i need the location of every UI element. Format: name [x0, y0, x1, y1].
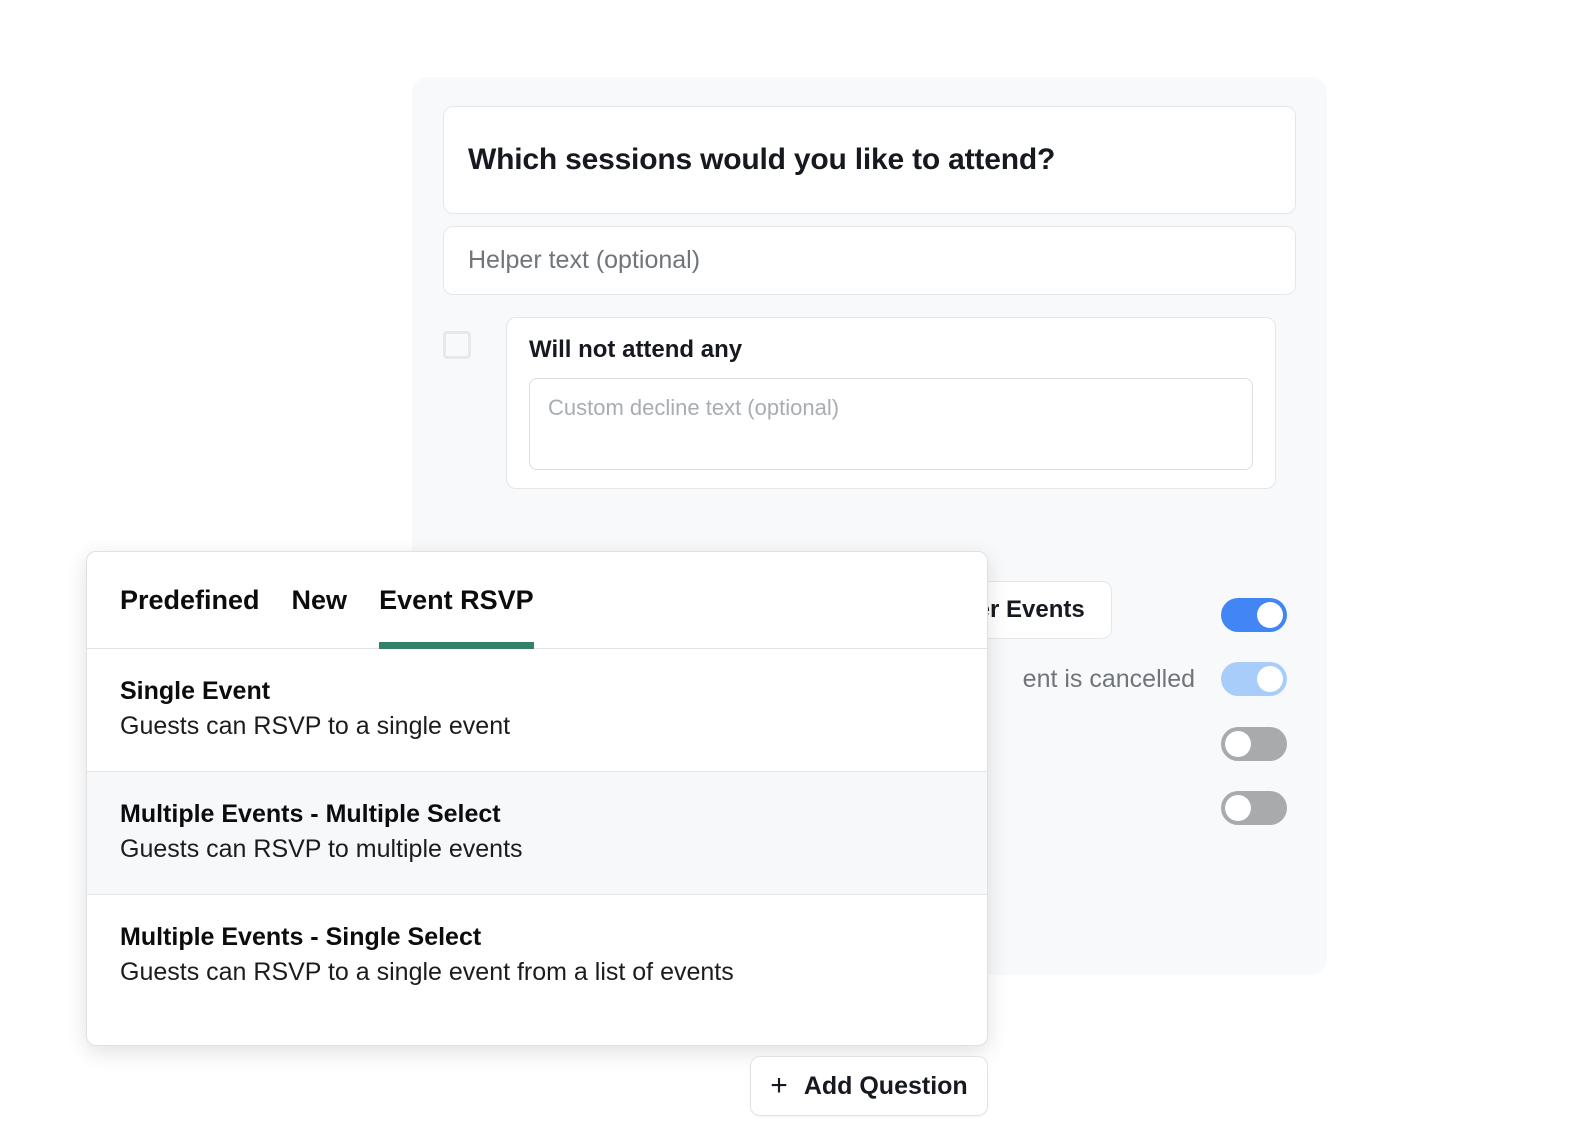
toggle-knob	[1225, 731, 1251, 757]
list-item[interactable]: Multiple Events - Multiple Select Guests…	[87, 772, 987, 895]
decline-option-card: Will not attend any Custom decline text …	[506, 317, 1276, 489]
helper-text-field[interactable]: Helper text (optional)	[443, 226, 1296, 295]
tab-new[interactable]: New	[292, 552, 348, 649]
question-title-text: Which sessions would you like to attend?	[468, 143, 1055, 177]
setting-toggle-1[interactable]	[1221, 598, 1287, 632]
decline-checkbox[interactable]	[443, 331, 471, 359]
toggle-knob	[1225, 795, 1251, 821]
add-question-label: Add Question	[804, 1072, 968, 1101]
screenshot-root: Which sessions would you like to attend?…	[0, 0, 1570, 1146]
question-title-field[interactable]: Which sessions would you like to attend?	[443, 106, 1296, 214]
setting-toggle-2[interactable]	[1221, 662, 1287, 696]
list-item-description: Guests can RSVP to a single event from a…	[120, 958, 954, 987]
list-item-description: Guests can RSVP to a single event	[120, 712, 954, 741]
toggle-knob	[1257, 666, 1283, 692]
list-item[interactable]: Single Event Guests can RSVP to a single…	[87, 649, 987, 772]
tab-predefined-label: Predefined	[120, 585, 260, 616]
list-item-title: Multiple Events - Multiple Select	[120, 800, 954, 829]
setting-toggle-4[interactable]	[1221, 791, 1287, 825]
setting-row-2-label: ent is cancelled	[1023, 665, 1195, 694]
helper-text-placeholder: Helper text (optional)	[468, 246, 700, 275]
tab-event-rsvp[interactable]: Event RSVP	[379, 552, 534, 649]
list-item-description: Guests can RSVP to multiple events	[120, 835, 954, 864]
tab-predefined[interactable]: Predefined	[120, 552, 260, 649]
list-item-title: Single Event	[120, 677, 954, 706]
decline-option-label: Will not attend any	[529, 336, 1253, 364]
plus-icon: +	[770, 1071, 788, 1101]
decline-custom-text-input[interactable]: Custom decline text (optional)	[529, 378, 1253, 470]
list-item[interactable]: Multiple Events - Single Select Guests c…	[87, 895, 987, 1017]
decline-option-row: Will not attend any Custom decline text …	[443, 317, 1313, 492]
decline-custom-text-placeholder: Custom decline text (optional)	[548, 395, 839, 420]
toggle-knob	[1257, 602, 1283, 628]
template-tabs: Predefined New Event RSVP	[87, 552, 987, 649]
tab-new-label: New	[292, 585, 348, 616]
tab-event-rsvp-label: Event RSVP	[379, 585, 534, 616]
add-question-button[interactable]: + Add Question	[750, 1056, 988, 1116]
list-item-title: Multiple Events - Single Select	[120, 923, 954, 952]
template-picker-panel: Predefined New Event RSVP Single Event G…	[86, 551, 988, 1046]
setting-toggle-3[interactable]	[1221, 727, 1287, 761]
